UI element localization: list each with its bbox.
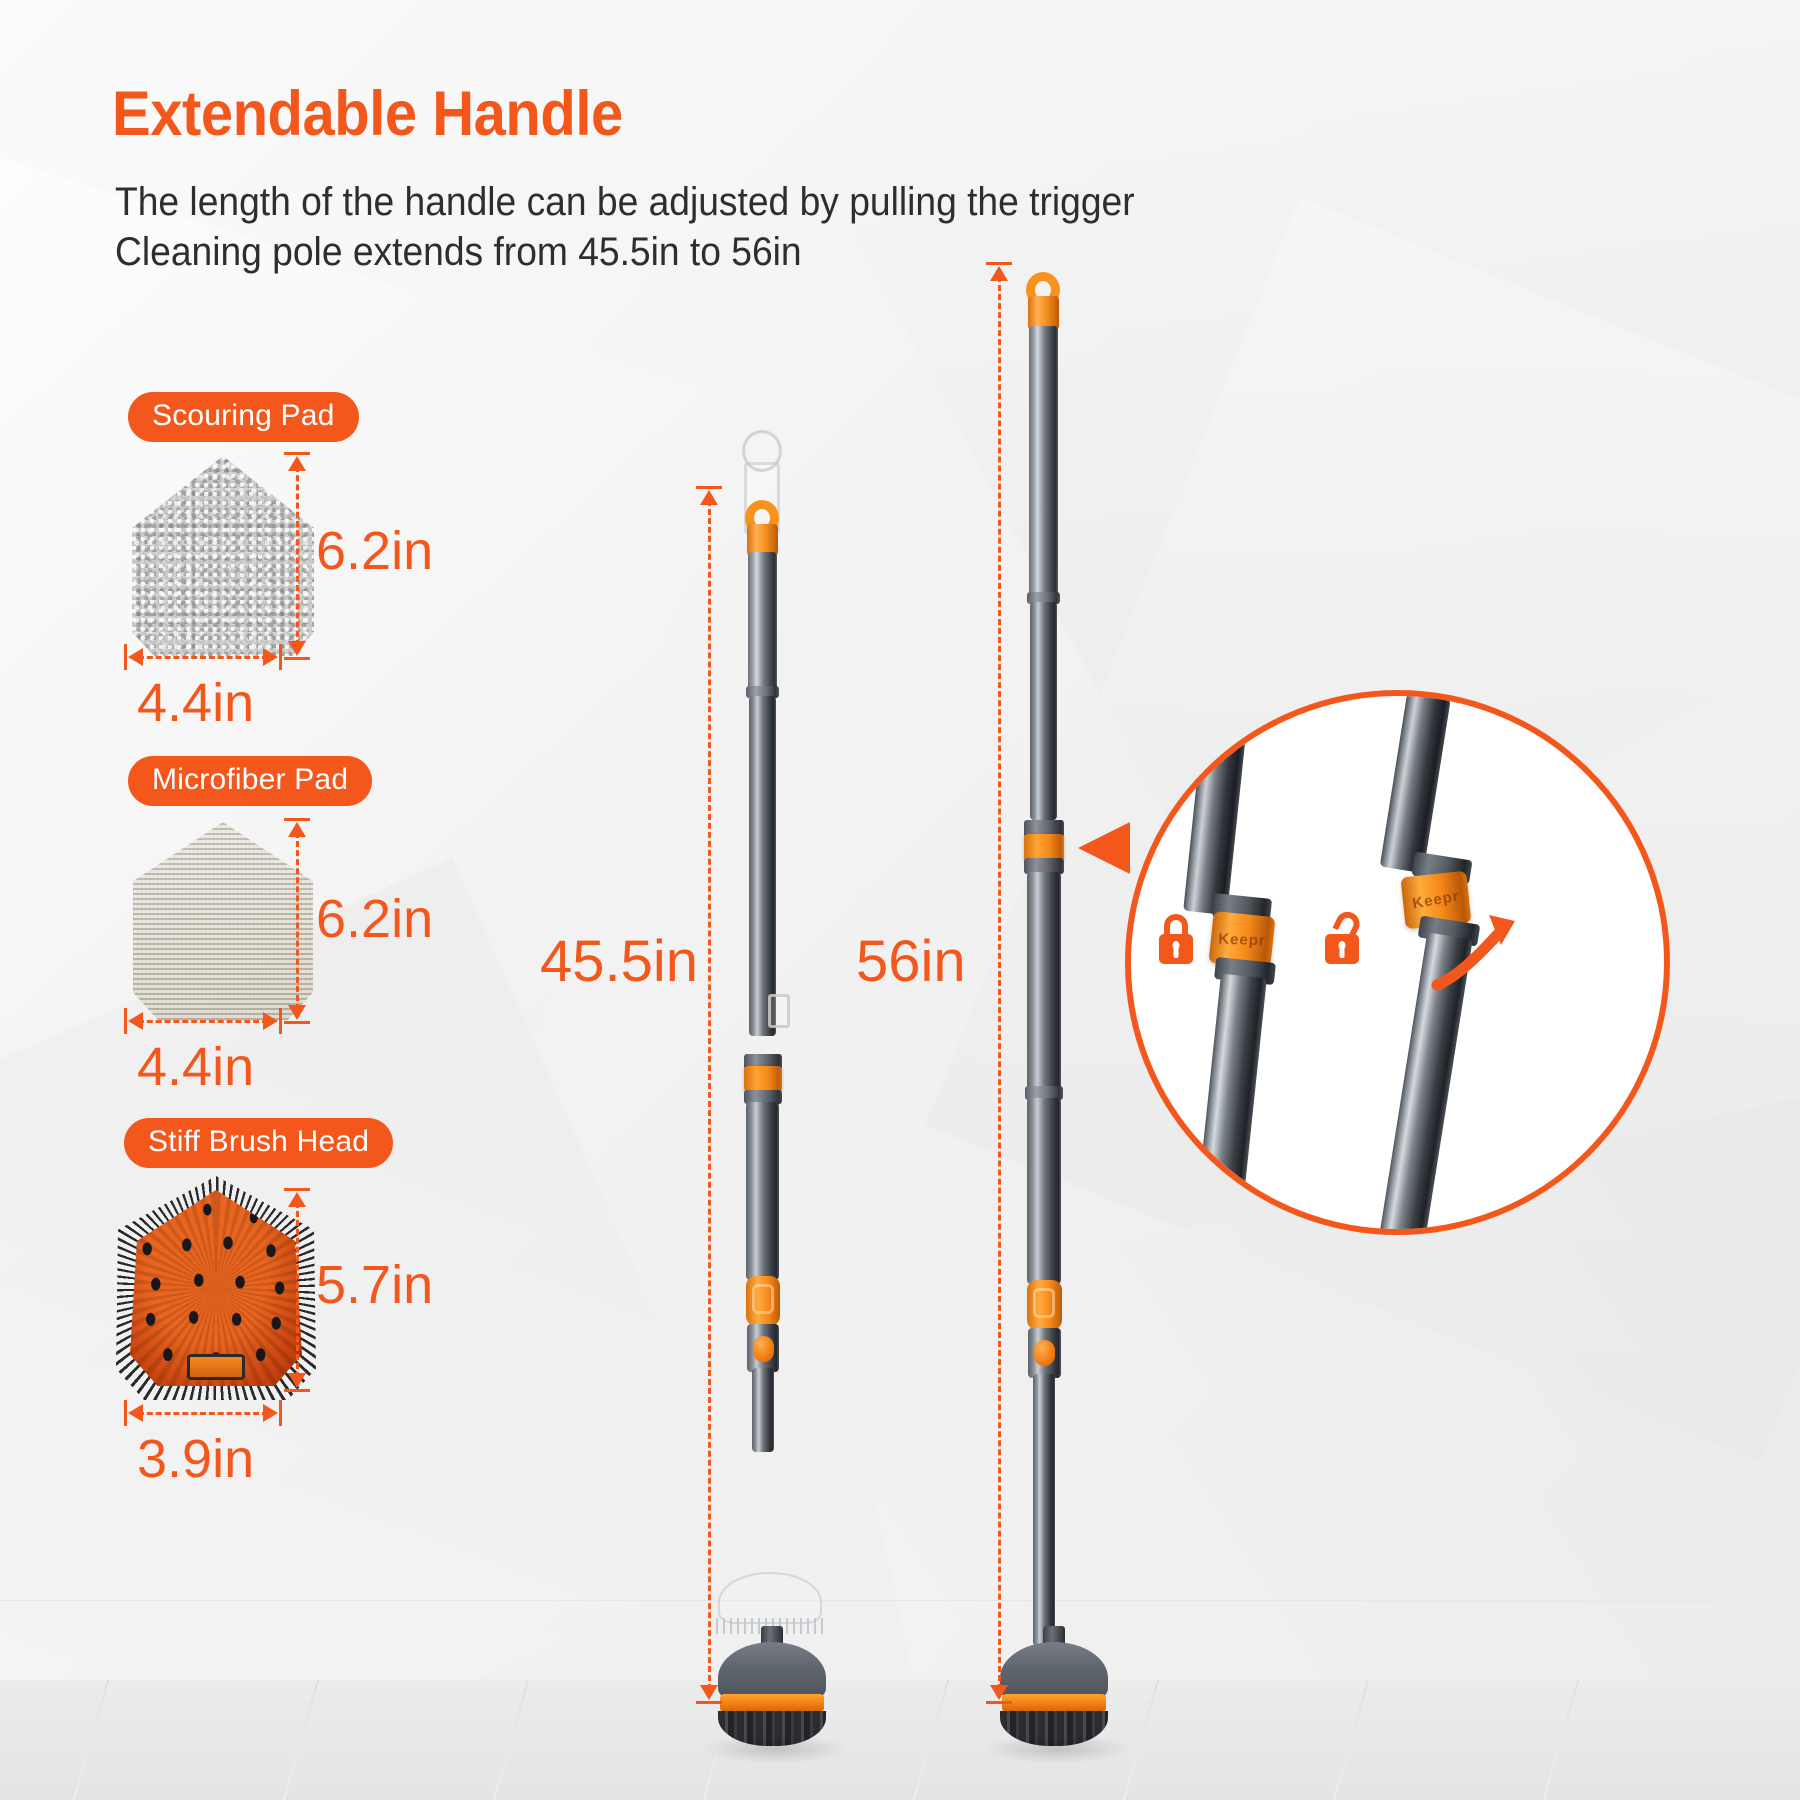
badge-microfiber-pad: Microfiber Pad	[128, 756, 372, 806]
scouring-pad-image	[132, 456, 314, 656]
pole-neck	[1033, 1374, 1055, 1646]
ghost-brush-head	[718, 1572, 822, 1624]
pole-retracted-length-label: 45.5in	[540, 928, 698, 995]
brush-mounting-clip	[187, 1354, 245, 1380]
lock-open-icon	[1325, 934, 1359, 964]
inset-right-brand-text: Keepr	[1402, 886, 1470, 914]
inset-left-brand-text: Keepr	[1211, 930, 1274, 949]
subtitle-line-2: Cleaning pole extends from 45.5in to 56i…	[115, 230, 802, 275]
scouring-pad-height-dimension	[288, 452, 306, 660]
lock-closed-shackle-icon	[1164, 914, 1188, 936]
brush-head-assembly	[1000, 1642, 1108, 1746]
pole-upper-segment	[1029, 326, 1058, 596]
subtitle-line-1: The length of the handle can be adjusted…	[115, 180, 1135, 225]
ghost-hanging-loop	[742, 430, 782, 472]
pole-extended-length-label: 56in	[856, 928, 966, 995]
pole-lower-segment	[746, 1102, 779, 1280]
badge-scouring-pad: Scouring Pad	[128, 392, 359, 442]
scouring-pad-width-dimension	[124, 648, 282, 666]
inset-right-pole-upper	[1380, 693, 1451, 874]
brush-head-shadow	[700, 1734, 850, 1764]
microfiber-pad-width-label: 4.4in	[137, 1036, 254, 1098]
inset-left-pole-lower	[1193, 974, 1267, 1235]
brush-head-shadow	[982, 1734, 1132, 1764]
inset-callout-pointer	[1078, 822, 1130, 874]
scouring-pad-height-label: 6.2in	[316, 520, 433, 582]
stiff-brush-head-height-dimension	[288, 1188, 306, 1392]
twist-lock-collar[interactable]	[744, 1066, 782, 1092]
stiff-brush-head-width-dimension	[124, 1404, 282, 1422]
release-button[interactable]	[1034, 1340, 1055, 1366]
pole-upper-segment	[748, 552, 777, 690]
pole-neck	[752, 1368, 774, 1452]
pole-mid-segment	[749, 696, 776, 1036]
microfiber-pad-height-label: 6.2in	[316, 888, 433, 950]
horizon-line	[0, 1600, 1800, 1601]
pole-third-segment	[1027, 872, 1061, 1090]
pole-lower-segment	[1027, 1098, 1061, 1284]
lock-closed-icon	[1159, 934, 1193, 964]
zoom-inset-circle: Keepr Keepr	[1125, 690, 1670, 1235]
stiff-brush-head-image	[130, 1190, 302, 1386]
stiff-brush-head-height-label: 5.7in	[316, 1254, 433, 1316]
pole-mid-segment	[1030, 602, 1057, 820]
trigger-outline	[752, 1284, 774, 1314]
microfiber-pad-width-dimension	[124, 1012, 282, 1030]
microfiber-pad-height-dimension	[288, 818, 306, 1024]
brush-head-assembly	[718, 1642, 826, 1746]
curved-arrow-icon	[1431, 911, 1541, 1001]
floor-strip	[0, 1680, 1800, 1800]
release-button[interactable]	[753, 1336, 774, 1362]
trigger-outline	[1033, 1288, 1055, 1318]
microfiber-pad-image	[133, 822, 313, 1020]
ghost-wall-hook	[768, 994, 790, 1028]
pole-retracted-length-dimension	[700, 486, 718, 1704]
pole-top-orange-cap	[1028, 296, 1059, 330]
pole-extended-length-dimension	[990, 262, 1008, 1704]
badge-stiff-brush-head: Stiff Brush Head	[124, 1118, 393, 1168]
scouring-pad-width-label: 4.4in	[137, 672, 254, 734]
stiff-brush-head-width-label: 3.9in	[137, 1428, 254, 1490]
page-title: Extendable Handle	[112, 78, 623, 150]
